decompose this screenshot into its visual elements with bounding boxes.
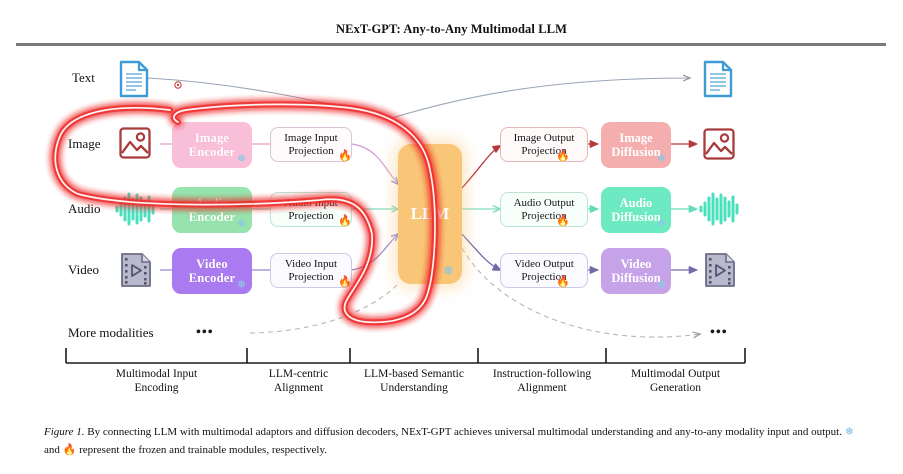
llm-label: LLM (411, 204, 450, 224)
video-film-output-icon (704, 252, 736, 293)
audio-input-projection-label: Audio InputProjection (284, 197, 337, 222)
row-label-image: Image (68, 136, 100, 152)
axis-stage-multimodal-input-encoding: Multimodal InputEncoding (66, 368, 247, 395)
image-output-projection-box[interactable]: Image OutputProjection (500, 127, 588, 162)
caption-text-3: represent the frozen and trainable modul… (76, 444, 327, 456)
video-output-projection-box[interactable]: Video OutputProjection (500, 253, 588, 288)
row-label-more-modalities: More modalities (68, 325, 154, 341)
figure-number: Figure 1. (44, 426, 85, 438)
flame-icon: 🔥 (338, 151, 352, 162)
axis-stage-llm-based-semantic-understanding: LLM-based SemanticUnderstanding (348, 368, 480, 395)
snowflake-icon: ❅ (237, 154, 246, 165)
flame-icon: 🔥 (556, 216, 570, 227)
row-label-text: Text (72, 70, 95, 86)
caption-text-1: By connecting LLM with multimodal adapto… (85, 426, 845, 438)
title-divider (16, 43, 886, 46)
flame-icon: 🔥 (556, 151, 570, 162)
figure-caption: Figure 1. By connecting LLM with multimo… (44, 424, 860, 460)
axis-stage-llm-centric-alignment: LLM-centricAlignment (247, 368, 350, 395)
page-title: NExT-GPT: Any-to-Any Multimodal LLM (0, 22, 903, 37)
snowflake-icon: ❅ (657, 154, 666, 165)
axis-stage-instruction-following-alignment: Instruction-followingAlignment (476, 368, 608, 395)
audio-waveform-icon (114, 192, 158, 231)
image-picture-icon (118, 126, 152, 165)
video-film-icon (120, 252, 152, 293)
text-document-output-icon (702, 60, 734, 103)
row-label-video: Video (68, 262, 99, 278)
caption-text-2: and (44, 444, 63, 456)
image-encoder-label: ImageEncoder (189, 131, 236, 159)
more-modalities-ellipsis-right: ••• (710, 325, 728, 341)
image-diffusion-label: ImageDiffusion (611, 131, 660, 159)
flame-icon: 🔥 (556, 277, 570, 288)
snowflake-icon: ❅ (845, 426, 854, 438)
architecture-diagram: Text Image Audio Video More modalities •… (0, 48, 903, 413)
snowflake-icon: ❅ (443, 264, 454, 277)
image-input-projection-label: Image InputProjection (284, 132, 337, 157)
audio-encoder-label: AudioEncoder (189, 196, 236, 224)
video-diffusion-label: VideoDiffusion (611, 257, 660, 285)
flame-icon: 🔥 (338, 216, 352, 227)
flame-icon: 🔥 (338, 277, 352, 288)
snowflake-icon: ❅ (237, 280, 246, 291)
flame-icon: 🔥 (63, 444, 77, 456)
figure-page: NExT-GPT: Any-to-Any Multimodal LLM (0, 0, 903, 474)
image-picture-output-icon (702, 127, 736, 166)
video-encoder-label: VideoEncoder (189, 257, 236, 285)
axis-stage-multimodal-output-generation: Multimodal OutputGeneration (606, 368, 745, 395)
audio-diffusion-label: AudioDiffusion (611, 196, 660, 224)
text-document-icon (118, 60, 150, 103)
snowflake-icon: ❅ (657, 219, 666, 230)
video-input-projection-label: Video InputProjection (285, 258, 337, 283)
audio-waveform-output-icon (698, 192, 742, 231)
snowflake-icon: ❅ (237, 219, 246, 230)
more-modalities-ellipsis-left: ••• (196, 325, 214, 341)
row-label-audio: Audio (68, 201, 101, 217)
audio-output-projection-box[interactable]: Audio OutputProjection (500, 192, 588, 227)
snowflake-icon: ❅ (657, 280, 666, 291)
